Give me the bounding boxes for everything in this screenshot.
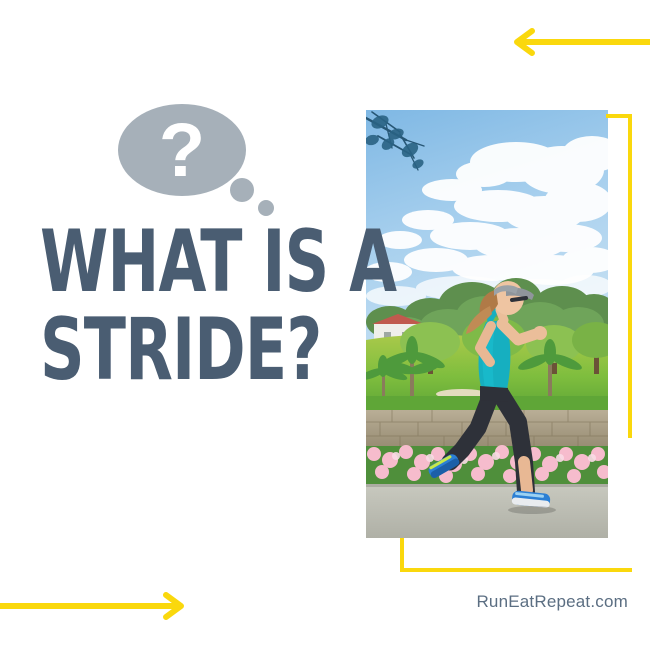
page-title-line-2: STRIDE? (40, 306, 280, 394)
poster-canvas: ? WHAT IS A STRIDE? RunEatRepeat.com (0, 0, 650, 650)
thought-bubble-dot-large (230, 178, 254, 202)
page-title-line-1: WHAT IS A (40, 218, 280, 306)
runner-photo (366, 110, 608, 538)
frame-bracket-top-right (606, 114, 632, 438)
arrow-left-icon (508, 28, 650, 56)
question-mark-thought-bubble-icon: ? (118, 104, 278, 212)
question-mark-glyph: ? (159, 108, 205, 193)
brand-website-label: RunEatRepeat.com (408, 592, 628, 612)
runner-photo-illustration (366, 110, 608, 538)
page-title: WHAT IS A STRIDE? (40, 218, 280, 394)
arrow-right-icon (0, 592, 190, 620)
